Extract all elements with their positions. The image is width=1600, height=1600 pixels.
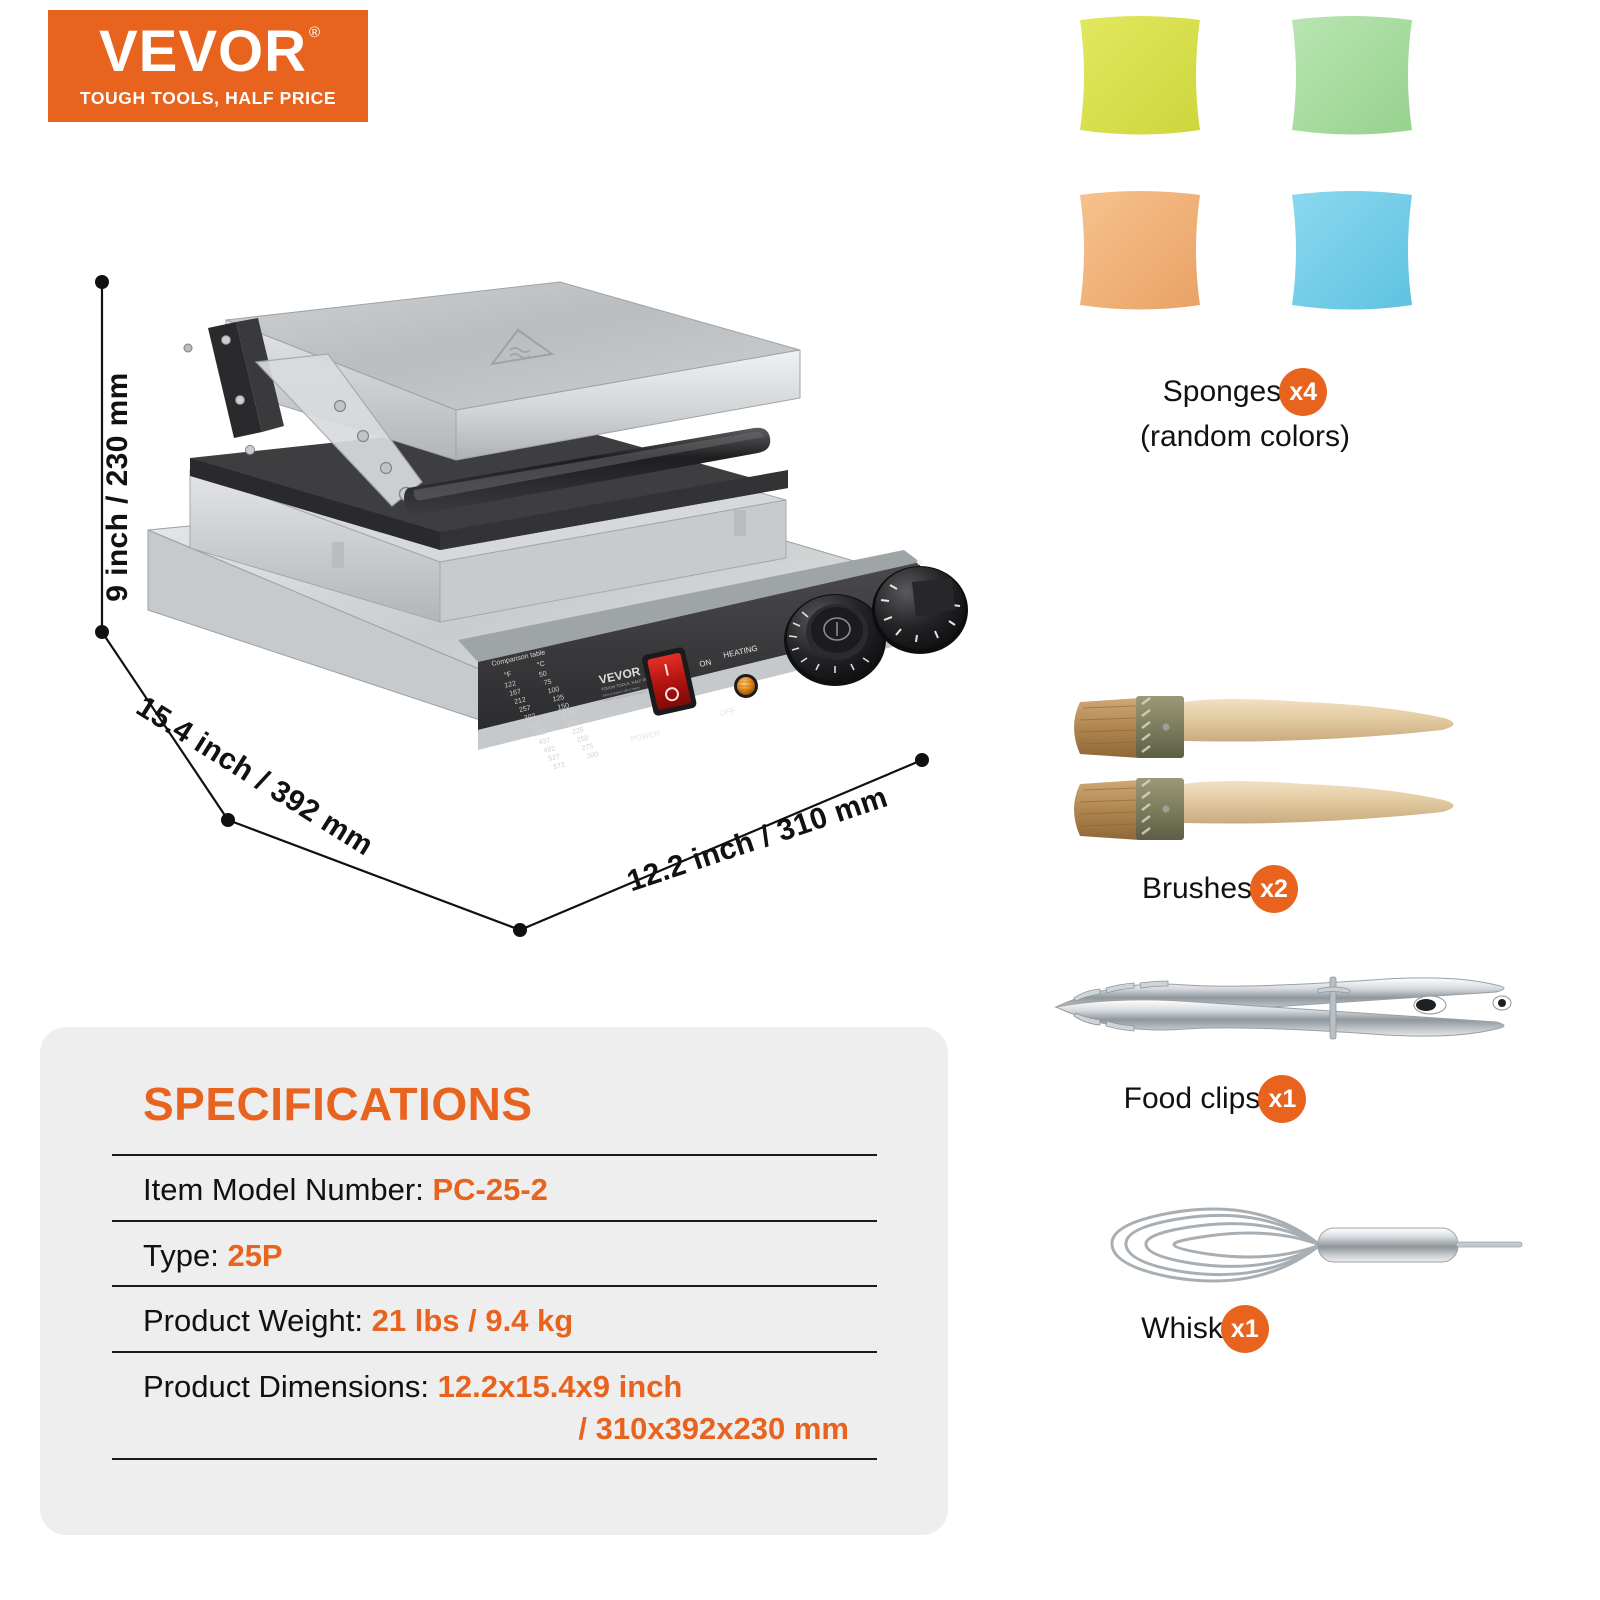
thermostat-knob[interactable] (784, 594, 886, 686)
sponges-illustration (1010, 0, 1600, 360)
heating-indicator-lamp (734, 674, 758, 698)
brushes-label: Brushes x2 (1010, 865, 1430, 913)
spec-value-weight: 21 lbs / 9.4 kg (372, 1303, 574, 1338)
spec-label-model: Item Model Number: (143, 1172, 424, 1207)
sponges-label: Sponges x4 (random colors) (1010, 368, 1480, 454)
whisk-wires (1112, 1209, 1320, 1281)
sponges-qty-badge: x4 (1279, 368, 1327, 416)
spec-row-model: Item Model Number: PC-25-2 (112, 1154, 877, 1220)
svg-text:392: 392 (533, 729, 546, 738)
svg-text:527: 527 (548, 754, 561, 763)
spec-row-dimensions: Product Dimensions: 12.2x15.4x9 inch / 3… (112, 1351, 877, 1460)
vevor-logo: VEVOR ® TOUGH TOOLS, HALF PRICE (48, 10, 368, 122)
svg-text:437: 437 (538, 737, 551, 746)
brushes-qty-badge: x2 (1250, 865, 1298, 913)
brand-tagline: TOUGH TOOLS, HALF PRICE (80, 88, 336, 109)
spec-value-dimensions-mm: / 310x392x230 mm (143, 1409, 877, 1449)
whisk-label: Whisk x1 (1010, 1305, 1400, 1353)
spec-label-type: Type: (143, 1238, 219, 1273)
whisk-illustration (1020, 1185, 1540, 1305)
tongs (1056, 977, 1511, 1039)
waffle-maker-illustration: Comparison table °F °C 12250 16775 21210… (40, 170, 1000, 960)
sponge-green (1292, 16, 1412, 135)
sponges-name: Sponges (1163, 375, 1281, 409)
spec-value-dimensions-inch: 12.2x15.4x9 inch (438, 1369, 683, 1404)
brushes-name: Brushes (1142, 872, 1252, 906)
brand-name: VEVOR (99, 19, 307, 84)
accessory-whisk: Whisk x1 (1010, 1185, 1600, 1395)
accessory-food-clips: Food clips x1 (1010, 955, 1600, 1165)
accessories-column: Sponges x4 (random colors) (1010, 0, 1600, 1600)
brushes-illustration (1050, 680, 1550, 855)
dimension-height-label: 9 inch / 230 mm (101, 327, 135, 647)
specifications-title: SPECIFICATIONS (143, 1077, 533, 1131)
spec-value-model: PC-25-2 (432, 1172, 547, 1207)
food-clips-illustration (1030, 955, 1550, 1065)
accessory-sponges: Sponges x4 (random colors) (1010, 0, 1600, 420)
svg-text:OFF: OFF (718, 706, 736, 718)
brush-1 (1074, 696, 1454, 758)
svg-text:200: 200 (567, 719, 580, 728)
sponges-note: (random colors) (1010, 420, 1480, 454)
food-clips-qty-badge: x1 (1258, 1075, 1306, 1123)
sponge-blue (1292, 191, 1412, 310)
brand-wordmark: VEVOR ® (99, 23, 317, 81)
spec-row-weight: Product Weight: 21 lbs / 9.4 kg (112, 1285, 877, 1351)
svg-text:572: 572 (553, 762, 566, 771)
spec-label-dimensions: Product Dimensions: (143, 1369, 429, 1404)
food-clips-name: Food clips (1124, 1082, 1261, 1116)
spec-value-type: 25P (227, 1238, 282, 1273)
brush-2 (1074, 778, 1454, 840)
svg-text:482: 482 (543, 745, 556, 754)
whisk-qty-badge: x1 (1221, 1305, 1269, 1353)
accessory-brushes: Brushes x2 (1010, 680, 1600, 930)
registered-mark-icon: ® (309, 25, 321, 40)
svg-text:POWER: POWER (629, 729, 661, 744)
svg-text:225: 225 (572, 727, 585, 736)
spec-row-type: Type: 25P (112, 1220, 877, 1286)
svg-text:300: 300 (586, 751, 599, 760)
spec-label-weight: Product Weight: (143, 1303, 363, 1338)
food-clips-label: Food clips x1 (1010, 1075, 1420, 1123)
whisk-name: Whisk (1141, 1312, 1223, 1346)
product-photo: Comparison table °F °C 12250 16775 21210… (40, 170, 1000, 960)
specifications-list: Item Model Number: PC-25-2 Type: 25P Pro… (112, 1154, 877, 1460)
svg-text:250: 250 (576, 735, 589, 744)
specifications-panel: SPECIFICATIONS Item Model Number: PC-25-… (40, 1027, 948, 1535)
sponge-orange (1080, 191, 1200, 310)
sponge-yellow (1080, 16, 1200, 135)
svg-text:275: 275 (581, 743, 594, 752)
